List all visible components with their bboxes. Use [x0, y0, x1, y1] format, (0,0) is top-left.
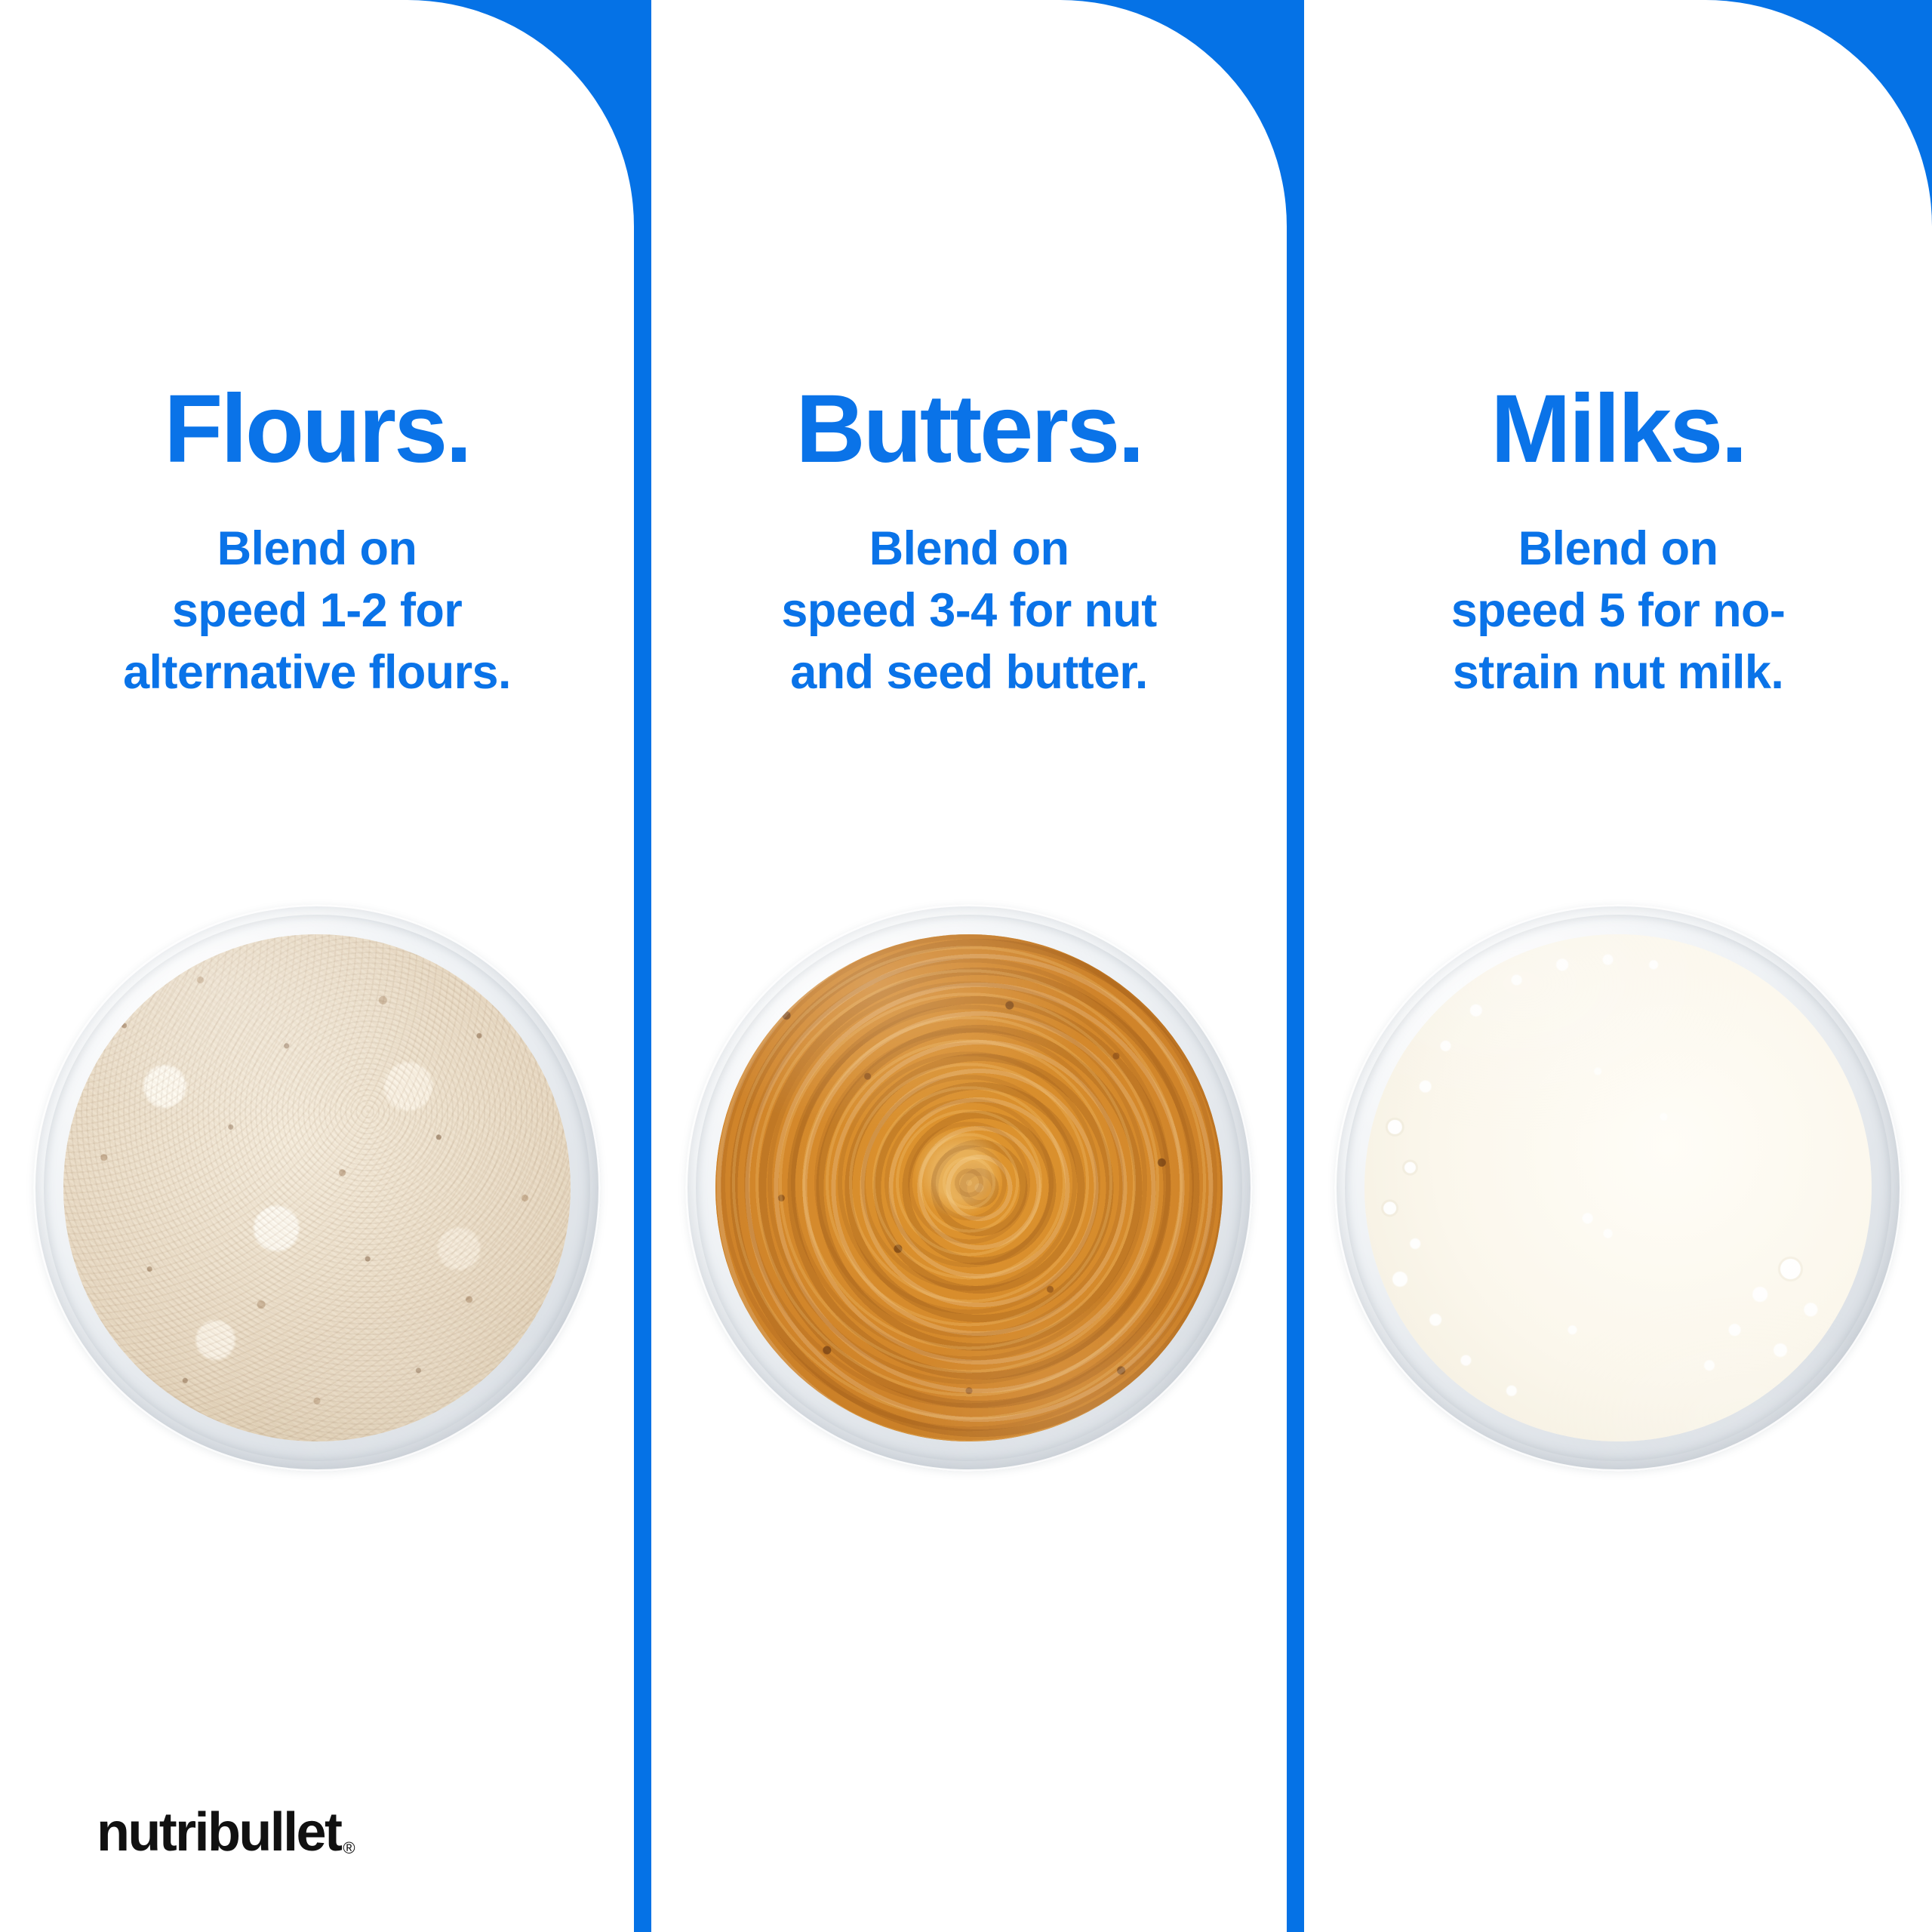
bowl-contents-flour [63, 934, 571, 1441]
body-text-butters: Blend on speed 3-4 for nut and seed butt… [781, 518, 1156, 704]
body-text-milks: Blend on speed 5 for no- strain nut milk… [1451, 518, 1786, 704]
bowl-of-nut-milk [1334, 904, 1902, 1472]
bowl-of-alternative-flour [33, 904, 601, 1472]
flour-texture [63, 934, 571, 1441]
column-content-milks: Milks. Blend on speed 5 for no- strain n… [1304, 0, 1932, 704]
bowl-contents-butter [715, 934, 1223, 1441]
bowl-contents-milk [1364, 934, 1872, 1441]
column-panel-butters: Butters. Blend on speed 3-4 for nut and … [651, 0, 1287, 1932]
milk-bubbles-texture [1364, 934, 1872, 1441]
nutribullet-wordmark: nutribullet [97, 1805, 340, 1860]
headline-flours: Flours. [164, 381, 470, 478]
bowl-wrap-milks [1304, 904, 1932, 1472]
bowl-of-nut-and-seed-butter [685, 904, 1253, 1472]
body-text-flours: Blend on speed 1-2 for alternative flour… [123, 518, 511, 704]
bowl-wrap-butters [651, 904, 1287, 1472]
headline-milks: Milks. [1491, 381, 1746, 478]
nut-butter-texture [715, 934, 1223, 1441]
nutribullet-logo: nutribullet ® [97, 1805, 355, 1860]
registered-trademark-icon: ® [343, 1840, 355, 1857]
poster-canvas: Flours. Blend on speed 1-2 for alternati… [0, 0, 1932, 1932]
column-content-butters: Butters. Blend on speed 3-4 for nut and … [651, 0, 1287, 704]
column-content-flours: Flours. Blend on speed 1-2 for alternati… [0, 0, 634, 704]
column-panel-milks: Milks. Blend on speed 5 for no- strain n… [1304, 0, 1932, 1932]
column-panel-flours: Flours. Blend on speed 1-2 for alternati… [0, 0, 634, 1932]
bowl-wrap-flours [0, 904, 634, 1472]
headline-butters: Butters. [795, 381, 1143, 478]
